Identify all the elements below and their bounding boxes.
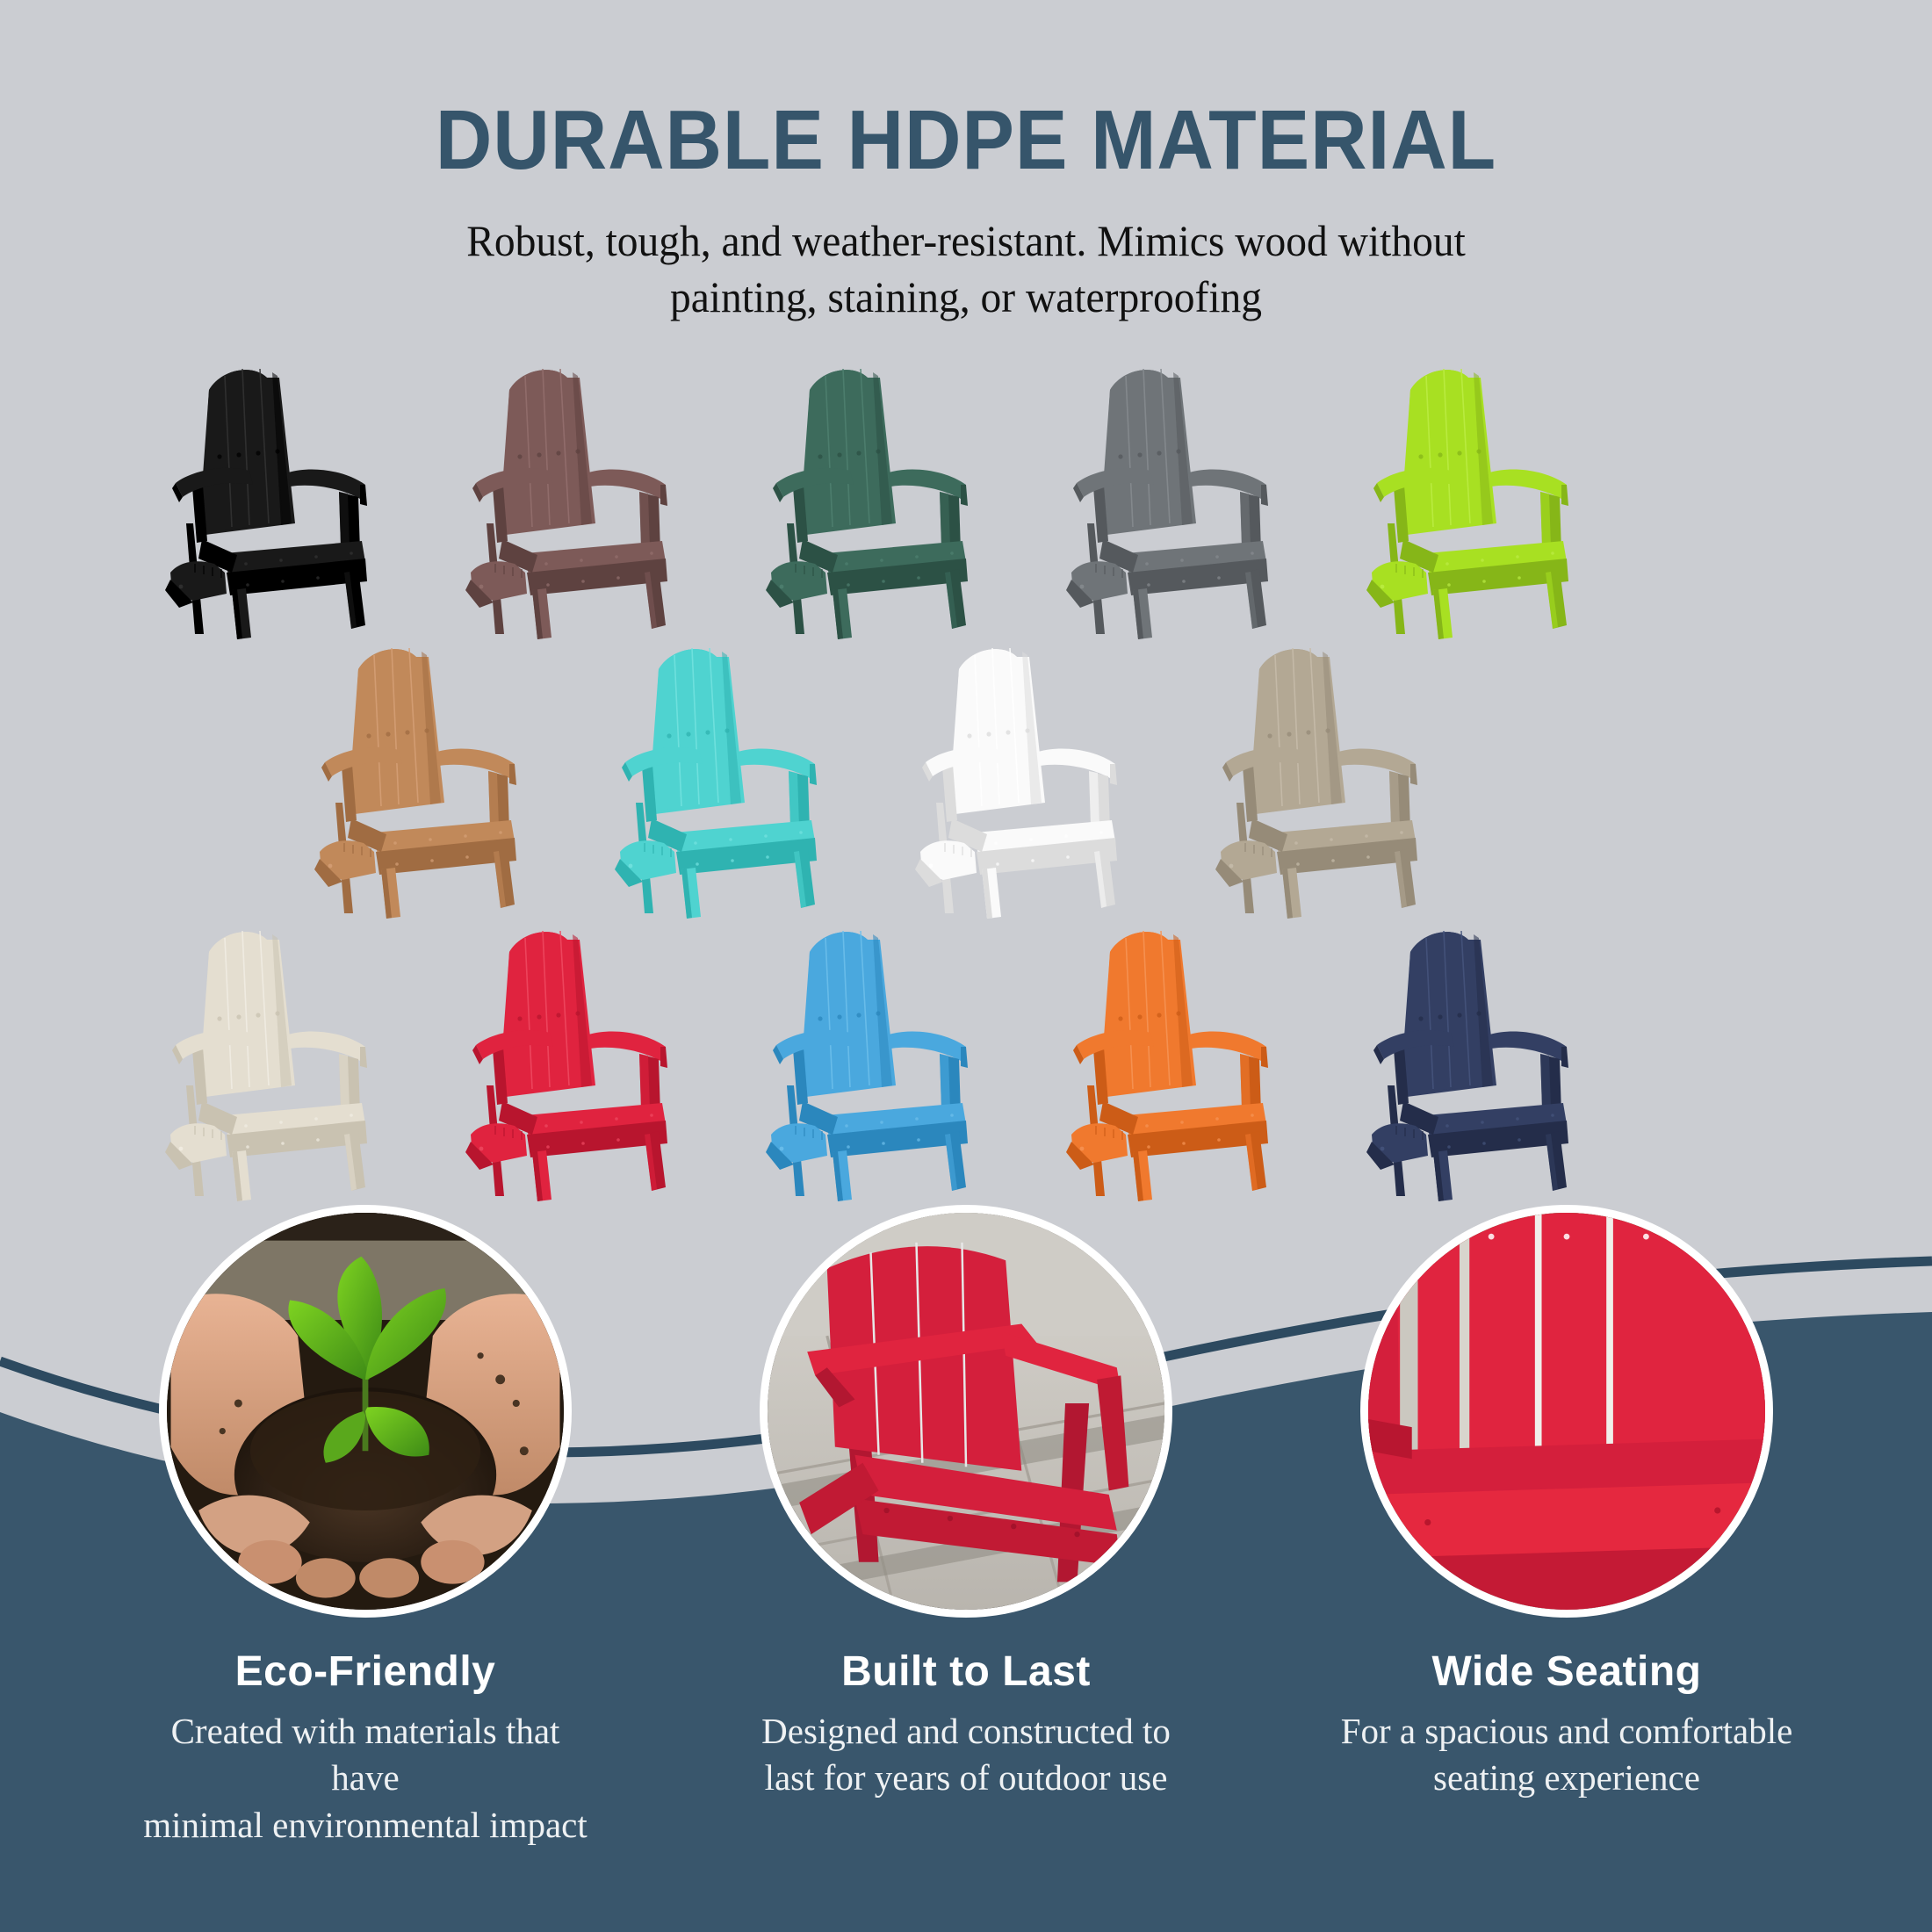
chair-illustration [1042, 351, 1305, 641]
page-subtitle: Robust, tough, and weather-resistant. Mi… [48, 183, 1884, 325]
chair-swatch-orange[interactable] [1042, 913, 1305, 1203]
chair-illustration [1342, 913, 1605, 1203]
feature-built-to-last: Built to Last Designed and constructed t… [738, 1205, 1194, 1802]
chair-swatch-light-blue[interactable] [741, 913, 1005, 1203]
chair-illustration [741, 351, 1005, 641]
chair-swatch-ivory[interactable] [141, 913, 404, 1203]
chair-illustration [141, 913, 404, 1203]
chair-swatch-khaki[interactable] [1191, 631, 1454, 920]
feature-description: Created with materials that have minimal… [137, 1696, 594, 1849]
chair-swatch-teak[interactable] [290, 631, 553, 920]
chair-illustration [741, 913, 1005, 1203]
chair-swatch-brown[interactable] [441, 351, 704, 641]
feature-wide-seating: Wide Seating For a spacious and comforta… [1338, 1205, 1795, 1802]
chair-swatch-lime-green[interactable] [1342, 351, 1605, 641]
chair-illustration [441, 351, 704, 641]
feature-title: Wide Seating [1338, 1618, 1795, 1696]
chair-illustration [290, 631, 553, 920]
chair-swatch-black[interactable] [141, 351, 404, 641]
chair-swatch-dark-green[interactable] [741, 351, 1005, 641]
feature-image-built-to-last [760, 1205, 1172, 1618]
feature-desc-line-1: Created with materials that have [171, 1711, 560, 1798]
feature-image-wide-seating [1360, 1205, 1773, 1618]
header: DURABLE HDPE MATERIAL Robust, tough, and… [0, 0, 1932, 325]
feature-desc-line-2: last for years of outdoor use [765, 1757, 1168, 1798]
chair-illustration [1042, 913, 1305, 1203]
feature-title: Built to Last [738, 1618, 1194, 1696]
feature-title: Eco-Friendly [137, 1618, 594, 1696]
infographic-canvas: DURABLE HDPE MATERIAL Robust, tough, and… [0, 0, 1932, 1932]
subtitle-line-1: Robust, tough, and weather-resistant. Mi… [466, 216, 1466, 265]
chair-illustration [590, 631, 854, 920]
chair-illustration [890, 631, 1154, 920]
feature-desc-line-2: seating experience [1433, 1757, 1700, 1798]
feature-eco-friendly: Eco-Friendly Created with materials that… [137, 1205, 594, 1849]
feature-description: For a spacious and comfortable seating e… [1338, 1696, 1795, 1802]
chair-swatch-gray[interactable] [1042, 351, 1305, 641]
feature-desc-line-1: Designed and constructed to [761, 1711, 1171, 1751]
chair-swatch-navy-blue[interactable] [1342, 913, 1605, 1203]
feature-image-eco-friendly [159, 1205, 572, 1618]
chair-illustration [1342, 351, 1605, 641]
subtitle-line-2: painting, staining, or waterproofing [670, 272, 1262, 321]
chair-illustration [441, 913, 704, 1203]
chair-illustration [1191, 631, 1454, 920]
chair-swatch-white[interactable] [890, 631, 1154, 920]
feature-description: Designed and constructed to last for yea… [738, 1696, 1194, 1802]
chair-swatch-turquoise[interactable] [590, 631, 854, 920]
feature-desc-line-2: minimal environmental impact [143, 1805, 588, 1845]
feature-desc-line-1: For a spacious and comfortable [1341, 1711, 1793, 1751]
chair-swatch-red[interactable] [441, 913, 704, 1203]
page-title: DURABLE HDPE MATERIAL [68, 0, 1864, 183]
chair-illustration [141, 351, 404, 641]
